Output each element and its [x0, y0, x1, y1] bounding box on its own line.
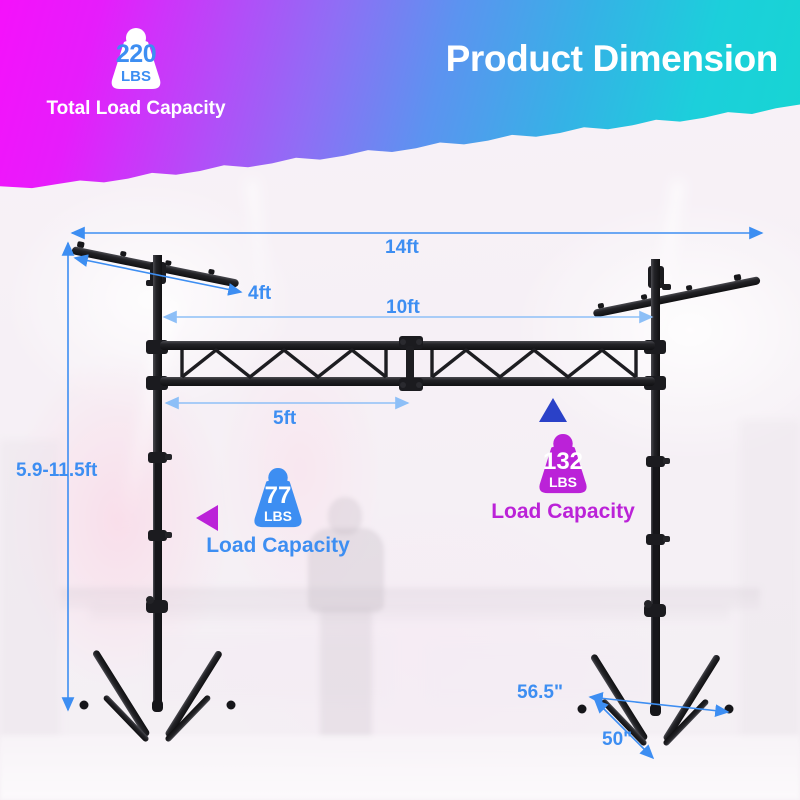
dim-label-height: 5.9-11.5ft [16, 460, 97, 482]
left-load-capacity-badge: 77 LBS Load Capacity [198, 466, 358, 558]
dim-label-base-width: 56.5" [517, 682, 563, 704]
total-load-label: Total Load Capacity [46, 98, 225, 120]
dim-label-4ft: 4ft [248, 283, 271, 305]
dim-line-base-width [590, 697, 728, 712]
right-load-capacity-badge: 132 LBS Load Capacity [478, 432, 648, 524]
weight-icon: 77 LBS [243, 466, 313, 530]
dim-label-14ft: 14ft [385, 237, 419, 259]
dim-label-5ft: 5ft [273, 408, 296, 430]
dim-label-leg-length: 50" [602, 729, 632, 751]
right-load-label: Load Capacity [491, 500, 635, 524]
right-load-value: 132 [543, 450, 583, 474]
pointer-triangle-up-icon [539, 398, 567, 422]
right-load-unit: LBS [549, 475, 577, 489]
total-load-unit: LBS [121, 69, 151, 84]
dim-label-10ft: 10ft [386, 297, 420, 319]
dim-line-4ft [75, 258, 241, 292]
weight-icon: 132 LBS [528, 432, 598, 496]
total-load-value: 220 [116, 42, 156, 67]
left-load-unit: LBS [264, 509, 292, 523]
weight-icon: 220 LBS [100, 26, 172, 92]
total-load-capacity-badge: 220 LBS Total Load Capacity [48, 26, 224, 120]
page-title: Product Dimension [446, 38, 778, 80]
left-load-value: 77 [265, 484, 292, 508]
infographic-canvas: 14ft 4ft 10ft 5ft 5.9-11.5ft 56.5" 50" P… [0, 0, 800, 800]
left-load-label: Load Capacity [206, 534, 350, 558]
